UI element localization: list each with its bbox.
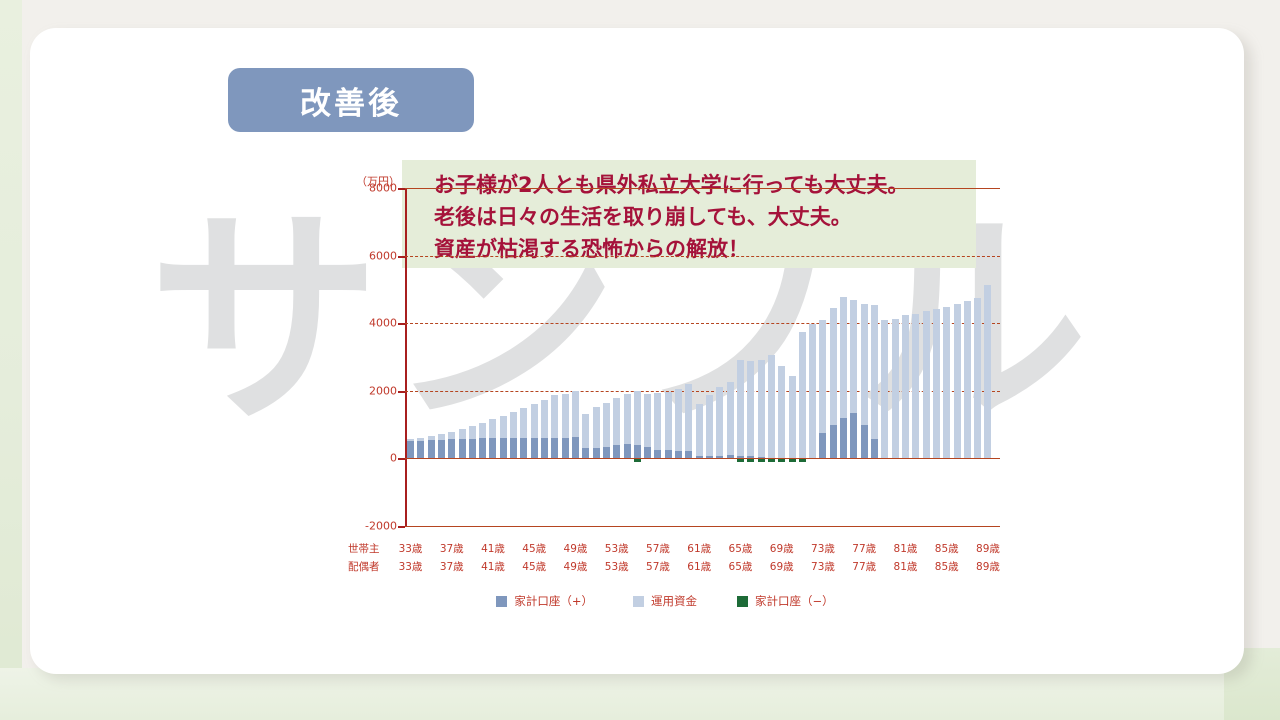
bar-column: [531, 188, 538, 526]
bar-segment-investment: [819, 320, 826, 433]
bar-segment-investment: [850, 300, 857, 413]
bar-segment-investment: [861, 304, 868, 425]
bar-column: [830, 188, 837, 526]
section-title-label: 改善後: [300, 78, 402, 123]
x-axis-tick-label: 37歳: [440, 559, 464, 574]
bar-column: [634, 188, 641, 526]
bar-segment-investment: [654, 393, 661, 450]
chart-legend: 家計口座（+）運用資金家計口座（−）: [320, 591, 1010, 611]
bar-segment-investment: [727, 382, 734, 455]
bar-segment-investment: [737, 360, 744, 456]
bar-segment-investment: [459, 429, 466, 439]
bar-column: [964, 188, 971, 526]
bar-column: [933, 188, 940, 526]
x-axis-tick-label: 89歳: [976, 541, 1000, 556]
bar-segment-investment: [510, 412, 517, 438]
bar-segment-household-positive: [634, 445, 641, 459]
bar-segment-investment: [809, 324, 816, 458]
bar-segment-investment: [665, 392, 672, 449]
x-axis-tick-label: 73歳: [811, 559, 835, 574]
bar-segment-household-positive: [541, 438, 548, 458]
y-axis-label-8000: 8000: [357, 182, 397, 195]
legend-item[interactable]: 運用資金: [633, 593, 697, 609]
bar-segment-household-positive: [861, 425, 868, 459]
bar-segment-household-positive: [459, 439, 466, 458]
bar-segment-household-positive: [438, 440, 445, 458]
bar-column: [428, 188, 435, 526]
bar-column: [799, 188, 806, 526]
bar-segment-investment: [448, 432, 455, 439]
bar-segment-household-positive: [593, 448, 600, 458]
bar-column: [696, 188, 703, 526]
x-axis-tick-label: 65歳: [729, 541, 753, 556]
legend-swatch-icon: [737, 596, 748, 607]
bar-segment-investment: [768, 355, 775, 458]
y-tick-8000: [398, 188, 405, 190]
bar-segment-investment: [747, 361, 754, 457]
bar-segment-investment: [871, 305, 878, 439]
bar-column: [685, 188, 692, 526]
bar-segment-household-positive: [706, 456, 713, 458]
bar-segment-household-positive: [417, 441, 424, 459]
bar-column: [459, 188, 466, 526]
bar-segment-household-positive: [850, 413, 857, 459]
bar-segment-investment: [634, 391, 641, 444]
bar-segment-investment: [593, 407, 600, 448]
bar-column: [407, 188, 414, 526]
bar-segment-household-positive: [819, 433, 826, 459]
y-tick-4000: [398, 323, 405, 325]
x-axis-row-spouse: 配偶者 33歳37歳41歳45歳49歳53歳57歳61歳65歳69歳73歳77歳…: [320, 559, 1010, 577]
bar-column: [716, 188, 723, 526]
bar-column: [840, 188, 847, 526]
bar-column: [819, 188, 826, 526]
slide-background: サンプル 改善後 お子様が2人とも県外私立大学に行っても大丈夫。 老後は日々の生…: [0, 0, 1280, 720]
x-axis-tick-label: 57歳: [646, 559, 670, 574]
bar-column: [747, 188, 754, 526]
bar-segment-investment: [531, 404, 538, 438]
decorative-band-left: [0, 0, 22, 720]
bar-segment-household-positive: [551, 438, 558, 458]
bar-segment-investment: [912, 314, 919, 459]
bar-segment-household-positive: [696, 456, 703, 458]
bar-segment-household-positive: [613, 445, 620, 459]
bar-segment-household-positive: [428, 440, 435, 458]
y-tick-0: [398, 458, 405, 460]
bar-segment-investment: [696, 404, 703, 456]
bar-segment-household-positive: [871, 439, 878, 459]
x-axis-tick-label: 89歳: [976, 559, 1000, 574]
bar-column: [562, 188, 569, 526]
bar-column: [778, 188, 785, 526]
bar-segment-household-negative: [737, 459, 744, 462]
bar-segment-investment: [954, 304, 961, 458]
x-axis-tick-label: 41歳: [481, 541, 505, 556]
x-axis-tick-label: 73歳: [811, 541, 835, 556]
bar-column: [984, 188, 991, 526]
x-axis-tick-label: 37歳: [440, 541, 464, 556]
bar-column: [593, 188, 600, 526]
y-axis-label-6000: 6000: [357, 249, 397, 262]
legend-label: 家計口座（+）: [514, 593, 593, 609]
bar-column: [613, 188, 620, 526]
bar-segment-household-negative: [768, 459, 775, 462]
bar-column: [923, 188, 930, 526]
bar-segment-investment: [603, 403, 610, 447]
bar-column: [624, 188, 631, 526]
x-axis-tick-label: 65歳: [729, 559, 753, 574]
bar-segment-household-positive: [562, 438, 569, 459]
bar-column: [500, 188, 507, 526]
bar-segment-investment: [943, 307, 950, 458]
bar-segment-household-negative: [758, 459, 765, 462]
bar-segment-investment: [428, 436, 435, 440]
x-axis-tick-label: 45歳: [522, 541, 546, 556]
bar-segment-household-positive: [716, 456, 723, 459]
bar-column: [551, 188, 558, 526]
bar-column: [675, 188, 682, 526]
slide-canvas: サンプル 改善後 お子様が2人とも県外私立大学に行っても大丈夫。 老後は日々の生…: [30, 28, 1244, 674]
x-axis-tick-label: 77歳: [852, 559, 876, 574]
bar-segment-household-positive: [489, 438, 496, 458]
bar-segment-investment: [500, 416, 507, 438]
bar-segment-investment: [417, 438, 424, 441]
x-axis-tick-label: 41歳: [481, 559, 505, 574]
bar-segment-investment: [964, 301, 971, 459]
bar-column: [479, 188, 486, 526]
bar-segment-household-negative: [778, 459, 785, 462]
bar-column: [809, 188, 816, 526]
y-axis-label-2000: 2000: [357, 384, 397, 397]
bar-column: [510, 188, 517, 526]
bar-segment-investment: [758, 360, 765, 457]
bar-segment-investment: [892, 319, 899, 459]
legend-item[interactable]: 家計口座（−）: [737, 593, 834, 609]
bar-column: [758, 188, 765, 526]
bar-segment-household-positive: [840, 418, 847, 459]
bar-segment-household-positive: [830, 425, 837, 459]
bar-column: [665, 188, 672, 526]
bar-segment-household-positive: [407, 441, 414, 459]
x-axis-tick-label: 85歳: [935, 559, 959, 574]
bar-column: [438, 188, 445, 526]
legend-swatch-icon: [496, 596, 507, 607]
bar-segment-investment: [541, 400, 548, 439]
bar-segment-household-positive: [479, 438, 486, 458]
x-axis-tick-label: 81歳: [894, 559, 918, 574]
bar-column: [768, 188, 775, 526]
bar-segment-household-positive: [624, 444, 631, 458]
bar-segment-household-positive: [603, 447, 610, 458]
legend-item[interactable]: 家計口座（+）: [496, 593, 593, 609]
bar-segment-investment: [572, 391, 579, 438]
bar-segment-investment: [789, 376, 796, 459]
bar-column: [572, 188, 579, 526]
bar-segment-investment: [933, 309, 940, 458]
bar-column: [850, 188, 857, 526]
bar-segment-household-positive: [758, 457, 765, 459]
bar-segment-household-positive: [737, 456, 744, 458]
x-axis-tick-label: 69歳: [770, 559, 794, 574]
x-axis-labels: 世帯主 33歳37歳41歳45歳49歳53歳57歳61歳65歳69歳73歳77歳…: [320, 541, 1010, 585]
bar-segment-household-positive: [644, 447, 651, 458]
bar-segment-household-negative: [799, 459, 806, 462]
bar-segment-investment: [881, 320, 888, 459]
bar-segment-household-positive: [520, 438, 527, 458]
bar-segment-investment: [479, 423, 486, 439]
bar-segment-household-positive: [654, 450, 661, 459]
x-axis-row-header-1: 配偶者: [348, 559, 380, 574]
bar-segment-investment: [582, 414, 589, 448]
bar-column: [789, 188, 796, 526]
bar-segment-investment: [902, 315, 909, 459]
x-axis-tick-label: 69歳: [770, 541, 794, 556]
bar-segment-investment: [562, 394, 569, 438]
bar-segment-household-negative: [634, 459, 641, 462]
bar-segment-household-positive: [675, 451, 682, 459]
x-axis-row-header-0: 世帯主: [348, 541, 380, 556]
bar-segment-household-negative: [789, 459, 796, 462]
section-title-pill: 改善後: [228, 68, 474, 132]
bar-column: [737, 188, 744, 526]
bar-segment-investment: [489, 419, 496, 438]
bar-segment-investment: [613, 398, 620, 445]
bar-column: [706, 188, 713, 526]
x-axis-tick-label: 49歳: [564, 559, 588, 574]
asset-projection-chart: （万円） 80006000400020000-2000 世帯主 33歳37歳41…: [320, 173, 1010, 633]
x-axis-tick-label: 45歳: [522, 559, 546, 574]
bar-segment-investment: [685, 384, 692, 451]
x-axis-tick-label: 81歳: [894, 541, 918, 556]
bar-segment-household-positive: [582, 448, 589, 458]
bar-column: [469, 188, 476, 526]
x-axis-tick-label: 33歳: [399, 559, 423, 574]
bar-column: [943, 188, 950, 526]
bar-segment-investment: [407, 439, 414, 440]
bar-column: [912, 188, 919, 526]
y-tick-6000: [398, 256, 405, 258]
bar-column: [654, 188, 661, 526]
bar-column: [603, 188, 610, 526]
legend-label: 運用資金: [651, 593, 697, 609]
x-axis-tick-label: 77歳: [852, 541, 876, 556]
bar-column: [582, 188, 589, 526]
x-axis-tick-label: 61歳: [687, 541, 711, 556]
x-axis-tick-label: 53歳: [605, 541, 629, 556]
bar-column: [861, 188, 868, 526]
x-axis-tick-label: 85歳: [935, 541, 959, 556]
bar-segment-household-positive: [500, 438, 507, 458]
bar-segment-household-positive: [572, 437, 579, 458]
y-axis-label--2000: -2000: [357, 520, 397, 533]
chart-plot-area: 80006000400020000-2000: [405, 188, 1000, 526]
legend-swatch-icon: [633, 596, 644, 607]
bar-segment-investment: [551, 395, 558, 438]
bar-segment-household-positive: [665, 450, 672, 458]
bar-segment-household-positive: [727, 455, 734, 458]
bar-segment-investment: [716, 387, 723, 456]
bar-column: [541, 188, 548, 526]
bar-segment-investment: [675, 389, 682, 451]
x-axis-row-household-head: 世帯主 33歳37歳41歳45歳49歳53歳57歳61歳65歳69歳73歳77歳…: [320, 541, 1010, 559]
bar-column: [489, 188, 496, 526]
bar-segment-household-negative: [747, 459, 754, 462]
bar-column: [892, 188, 899, 526]
bar-segment-investment: [644, 394, 651, 447]
bar-segment-household-positive: [685, 451, 692, 458]
x-axis-tick-label: 33歳: [399, 541, 423, 556]
bar-segment-investment: [778, 366, 785, 459]
legend-label: 家計口座（−）: [755, 593, 834, 609]
bar-segment-investment: [438, 434, 445, 440]
bar-segment-investment: [624, 394, 631, 445]
y-axis-label-4000: 4000: [357, 317, 397, 330]
x-axis-tick-label: 61歳: [687, 559, 711, 574]
bar-segment-investment: [799, 332, 806, 459]
bar-segment-investment: [469, 426, 476, 439]
bar-segment-household-positive: [448, 439, 455, 458]
bar-column: [727, 188, 734, 526]
bar-column: [417, 188, 424, 526]
y-tick--2000: [398, 526, 405, 528]
bar-column: [871, 188, 878, 526]
bar-segment-investment: [520, 408, 527, 438]
bar-segment-investment: [974, 298, 981, 459]
x-axis-tick-label: 57歳: [646, 541, 670, 556]
gridline--2000: [405, 526, 1000, 527]
bar-column: [954, 188, 961, 526]
bar-segment-household-positive: [469, 439, 476, 459]
bar-segment-household-positive: [747, 456, 754, 458]
bar-segment-investment: [830, 308, 837, 425]
bar-segment-investment: [984, 285, 991, 458]
x-axis-tick-label: 49歳: [564, 541, 588, 556]
y-axis-label-0: 0: [357, 452, 397, 465]
bar-column: [520, 188, 527, 526]
bar-column: [448, 188, 455, 526]
bar-column: [644, 188, 651, 526]
bar-segment-investment: [840, 297, 847, 418]
bar-segment-investment: [706, 395, 713, 456]
x-axis-tick-label: 53歳: [605, 559, 629, 574]
bar-segment-investment: [923, 311, 930, 458]
bar-segment-household-positive: [531, 438, 538, 458]
bar-column: [974, 188, 981, 526]
bar-column: [902, 188, 909, 526]
y-tick-2000: [398, 391, 405, 393]
bar-segment-household-positive: [510, 438, 517, 458]
bar-column: [881, 188, 888, 526]
